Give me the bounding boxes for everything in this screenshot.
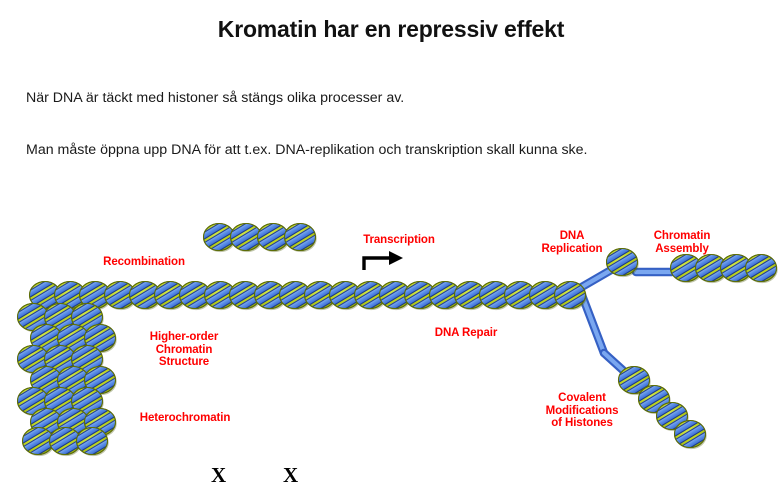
chromatin-processes-diagram: X X Recombination Transcription DNA Repl…: [0, 210, 782, 460]
body-paragraph-2: Man måste öppna upp DNA för att t.ex. DN…: [26, 142, 587, 158]
heterochromatin-block: [10, 296, 124, 460]
label-covalent-modifications-of-histones: Covalent Modifications of Histones: [528, 392, 636, 430]
label-dna-repair: DNA Repair: [418, 327, 514, 340]
label-recombination: Recombination: [92, 256, 196, 269]
transcription-arrow: [364, 251, 403, 270]
replication-fork-linkers: [580, 266, 672, 373]
main-chromatin-fiber: [22, 274, 594, 316]
label-chromatin-assembly: Chromatin Assembly: [632, 230, 732, 255]
crossover-x-1: X: [211, 465, 226, 486]
label-transcription: Transcription: [348, 234, 450, 247]
crossover-x-2: X: [283, 465, 298, 486]
body-paragraph-1: När DNA är täckt med histoner så stängs …: [26, 90, 404, 106]
label-heterochromatin: Heterochromatin: [124, 412, 246, 425]
free-nucleosome-segment: [196, 216, 324, 258]
label-higher-order-chromatin-structure: Higher-order Chromatin Structure: [132, 331, 236, 369]
label-dna-replication: DNA Replication: [522, 230, 622, 255]
page-title: Kromatin har en repressiv effekt: [0, 16, 782, 43]
